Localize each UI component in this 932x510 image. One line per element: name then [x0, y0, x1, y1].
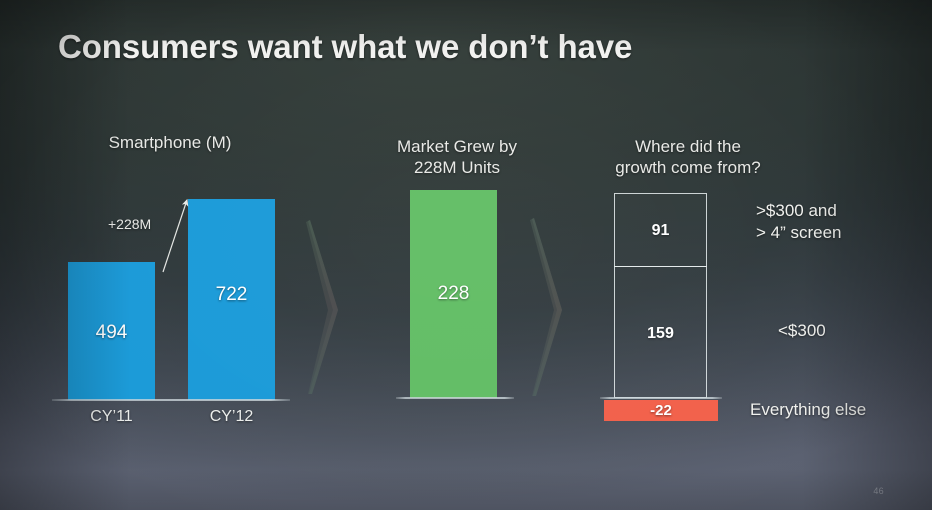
growth-arrow-icon: [155, 190, 205, 280]
bar-market-growth-value: 228: [410, 283, 497, 305]
presentation-slide: Consumers want what we don’t have Smartp…: [0, 0, 932, 510]
bar-cy11: 494: [68, 262, 155, 400]
stacked-segment-budget-value: 159: [615, 325, 706, 343]
bar-cy11-value: 494: [68, 322, 155, 344]
axis-line-smartphone: [52, 399, 290, 401]
page-number: 46: [873, 486, 884, 496]
chevron-divider-icon-2: [528, 216, 574, 398]
bar-cy12-value: 722: [188, 284, 275, 306]
bar-market-growth: 228: [410, 190, 497, 398]
panel-market-growth-heading: Market Grew by 228M Units: [372, 136, 542, 178]
stacked-segment-budget: 159: [614, 266, 707, 398]
stacked-segment-premium-value: 91: [615, 222, 706, 240]
stacked-segment-everything-else-value: -22: [604, 402, 718, 419]
panel-smartphone-heading: Smartphone (M): [60, 132, 280, 153]
growth-source-label-everything-else: Everything else: [750, 399, 930, 421]
growth-source-label-premium: >$300 and > 4” screen: [756, 200, 926, 244]
axis-line-market-growth: [396, 397, 514, 399]
stacked-segment-everything-else: -22: [604, 400, 718, 421]
chevron-divider-icon-1: [306, 218, 352, 396]
axis-label-cy11: CY’11: [68, 408, 155, 426]
stacked-segment-premium: 91: [614, 193, 707, 267]
axis-line-growth-source: [600, 397, 722, 399]
page-title: Consumers want what we don’t have: [58, 28, 632, 66]
growth-source-label-budget: <$300: [778, 320, 932, 342]
delta-label-228m: +228M: [108, 216, 151, 232]
panel-growth-source-heading: Where did the growth come from?: [588, 136, 788, 178]
axis-label-cy12: CY’12: [188, 408, 275, 426]
